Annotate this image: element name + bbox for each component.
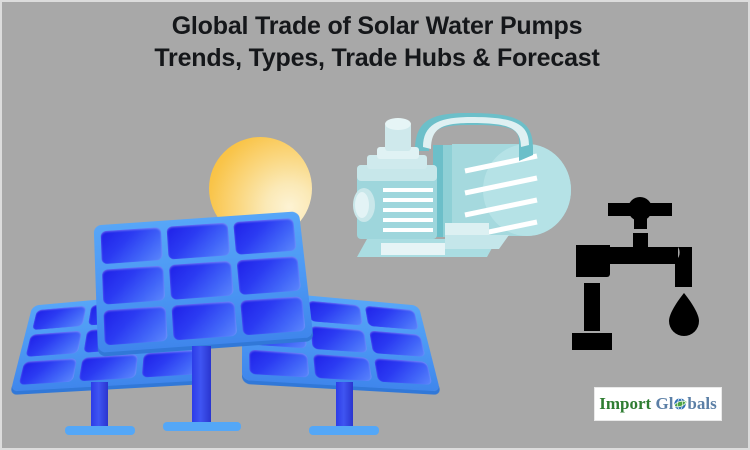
water-pump-icon (337, 107, 572, 267)
solar-cell (101, 227, 164, 264)
solar-cell (240, 296, 306, 335)
solar-cell (374, 358, 432, 385)
solar-panel-post (192, 346, 211, 424)
solar-cell (313, 354, 372, 382)
solar-cell (32, 306, 86, 331)
title-line-2: Trends, Types, Trade Hubs & Forecast (2, 42, 750, 74)
solar-panel-base (163, 422, 241, 431)
solar-cell (103, 306, 168, 346)
solar-panel-board (94, 211, 314, 353)
solar-cell (365, 306, 419, 331)
solar-cell (308, 301, 363, 326)
import-globals-logo[interactable]: Import Glbals (594, 387, 722, 421)
solar-cell (172, 301, 237, 341)
solar-panel-center (98, 210, 314, 440)
solar-cell (102, 266, 165, 305)
solar-panel-post (336, 382, 353, 428)
globe-icon (673, 397, 687, 414)
page-title: Global Trade of Solar Water Pumps Trends… (2, 10, 750, 74)
solar-cell (169, 261, 233, 299)
logo-word-bals: bals (687, 394, 716, 413)
solar-panel-base (309, 426, 379, 435)
banner: Global Trade of Solar Water Pumps Trends… (0, 0, 750, 450)
solar-cell (310, 326, 367, 352)
title-line-1: Global Trade of Solar Water Pumps (2, 10, 750, 42)
solar-cell (233, 218, 297, 255)
solar-cell (19, 358, 77, 385)
water-tap-icon (572, 195, 712, 355)
logo-word-import: Import (599, 394, 651, 413)
solar-cell (167, 223, 230, 260)
logo-word-gl: Gl (655, 394, 673, 413)
solar-cell (26, 331, 82, 357)
logo-text: Import Glbals (599, 395, 716, 414)
solar-cell (236, 256, 301, 294)
solar-cell (369, 331, 425, 357)
